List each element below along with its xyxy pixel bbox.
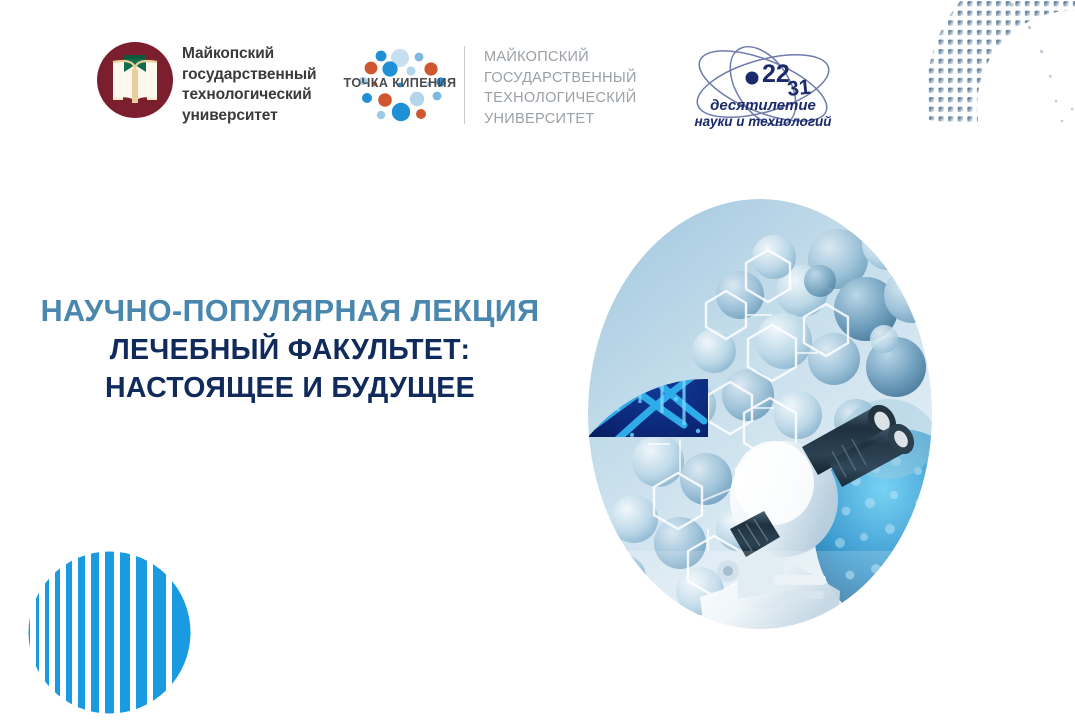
decade-science-logo: 22 31 десятилетие науки и технологий — [678, 38, 848, 134]
logo-bar: Майкопский государственный технологическ… — [0, 0, 1075, 160]
mstu-secondary-name: МАЙКОПСКИЙ ГОСУДАРСТВЕННЫЙ ТЕХНОЛОГИЧЕСК… — [484, 47, 654, 129]
svg-text:науки и технологий: науки и технологий — [694, 114, 832, 129]
svg-text:десятилетие: десятилетие — [710, 97, 816, 114]
logo-divider — [464, 46, 465, 124]
science-collage-circle — [588, 199, 932, 629]
svg-text:22: 22 — [762, 60, 790, 88]
striped-circle-decor — [22, 545, 197, 720]
presentation-slide: Майкопский государственный технологическ… — [0, 0, 1075, 720]
title-line-kicker: НАУЧНО-ПОПУЛЯРНАЯ ЛЕКЦИЯ — [0, 292, 580, 331]
mstu-crest-emblem — [96, 41, 174, 119]
tochka-kipeniya-logo: ТОЧКА КИПЕНИЯ — [341, 40, 459, 132]
tochka-kipeniya-wordmark: ТОЧКА КИПЕНИЯ — [341, 76, 459, 90]
mstu-caps-line-3: ТЕХНОЛОГИЧЕСКИЙ — [484, 88, 654, 109]
mstu-primary-name: Майкопский государственный технологическ… — [182, 44, 332, 126]
title-line-main-1: ЛЕЧЕБНЫЙ ФАКУЛЬТЕТ: — [0, 331, 580, 369]
title-line-main-2: НАСТОЯЩЕЕ И БУДУЩЕЕ — [0, 369, 580, 407]
mstu-caps-line-1: МАЙКОПСКИЙ — [484, 47, 654, 68]
mstu-caps-line-2: ГОСУДАРСТВЕННЫЙ — [484, 68, 654, 89]
slide-title: НАУЧНО-ПОПУЛЯРНАЯ ЛЕКЦИЯ ЛЕЧЕБНЫЙ ФАКУЛЬ… — [0, 292, 580, 407]
mstu-caps-line-4: УНИВЕРСИТЕТ — [484, 109, 654, 130]
